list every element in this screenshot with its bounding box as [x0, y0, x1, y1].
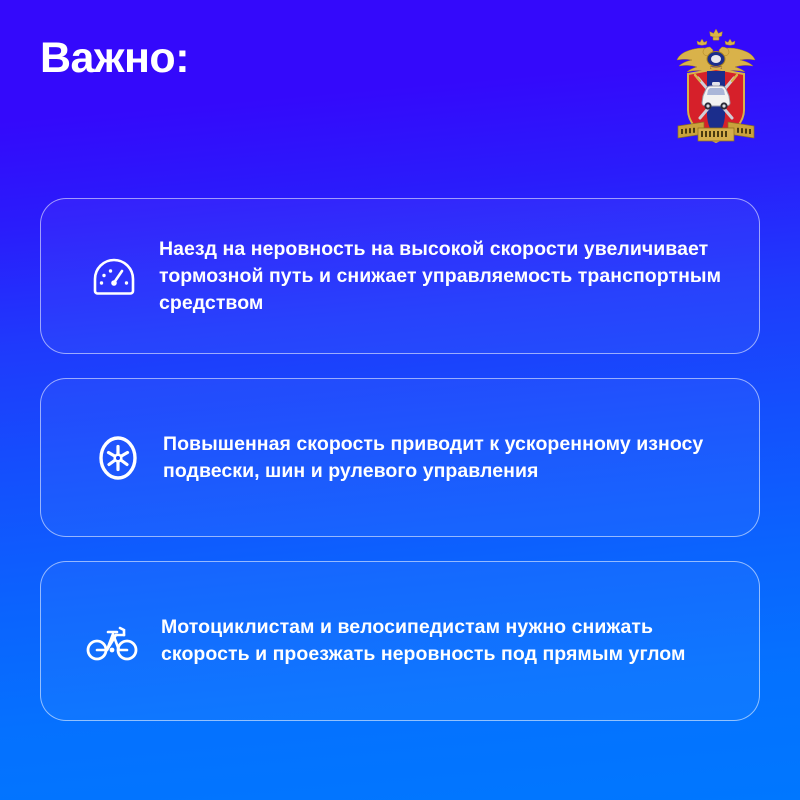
poster-canvas: Важно: — [0, 0, 800, 800]
tip-card-braking-distance[interactable]: Наезд на неровность на высокой скорости … — [40, 198, 760, 354]
wheel-icon — [85, 425, 151, 491]
tips-card-list: Наезд на неровность на высокой скорости … — [40, 198, 760, 721]
tip-card-text: Наезд на неровность на высокой скорости … — [159, 236, 733, 317]
speedometer-icon — [81, 243, 147, 309]
bicycle-icon — [79, 608, 145, 674]
tip-card-text: Мотоциклистам и велосипедистам нужно сни… — [161, 614, 721, 668]
tip-card-text: Повышенная скорость приводит к ускоренно… — [163, 431, 733, 485]
poster-header: Важно: — [0, 0, 800, 170]
tip-card-two-wheelers[interactable]: Мотоциклистам и велосипедистам нужно сни… — [40, 561, 760, 721]
mvd-gibdd-emblem-icon — [672, 26, 760, 146]
page-title: Важно: — [40, 33, 189, 83]
tip-card-suspension-wear[interactable]: Повышенная скорость приводит к ускоренно… — [40, 378, 760, 537]
